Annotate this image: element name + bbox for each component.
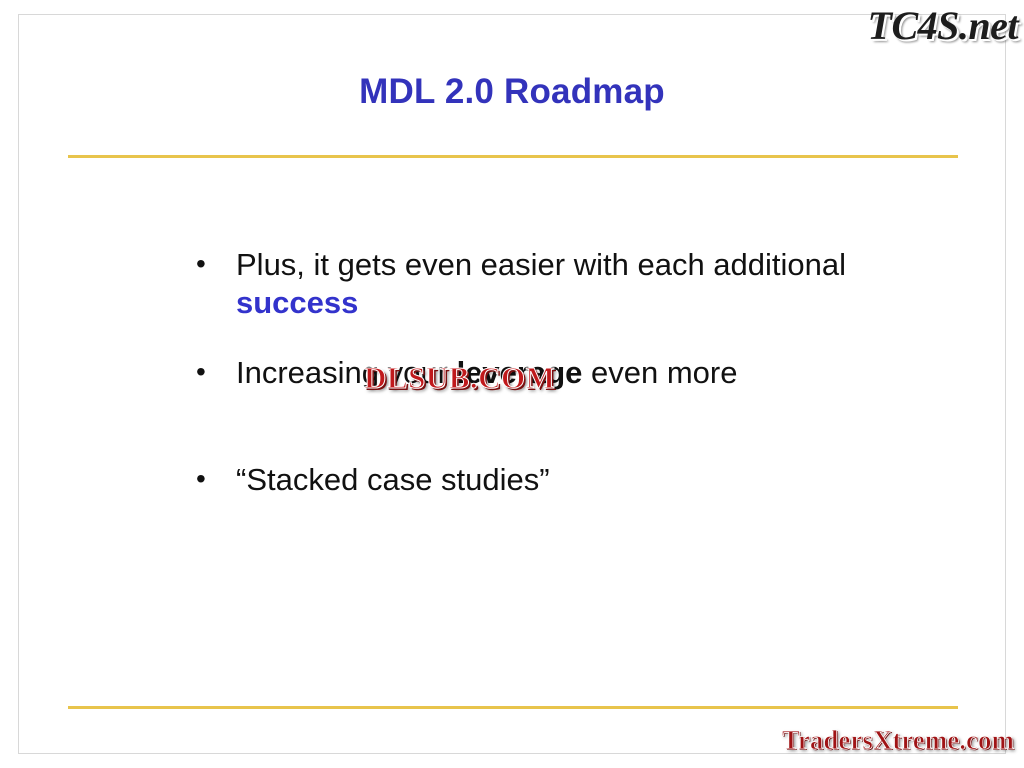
bullet-text-3: “Stacked case studies” [236,461,876,499]
bullet-text-2-tail: even more [582,355,737,390]
watermark-tc4s-icon: TC4S.net [868,2,1018,49]
bullet-marker-icon: • [196,461,236,497]
bullet-item-3: • “Stacked case studies” [196,461,926,499]
bullet-marker-icon: • [196,246,236,282]
slide: TC4S.net MDL 2.0 Roadmap • Plus, it gets… [0,0,1024,768]
divider-top [68,155,958,158]
slide-title: MDL 2.0 Roadmap [0,72,1024,112]
bullet-text-1: Plus, it gets even easier with each addi… [236,246,876,322]
bullet-marker-icon: • [196,354,236,390]
bullet-item-2: • Increasing your leverage even more [196,354,926,392]
watermark-dlsub-icon: DLSUB.COM [364,360,555,396]
divider-bottom [68,706,958,709]
bullet-text-2: Increasing your leverage even more [236,354,876,392]
bullet-text-1-accent: success [236,285,358,320]
watermark-tradersxtreme-icon: TradersXtreme.com [782,725,1014,756]
bullet-list: • Plus, it gets even easier with each ad… [196,246,926,499]
bullet-text-1-lead: Plus, it gets even easier with each addi… [236,247,846,282]
bullet-item-1: • Plus, it gets even easier with each ad… [196,246,926,322]
